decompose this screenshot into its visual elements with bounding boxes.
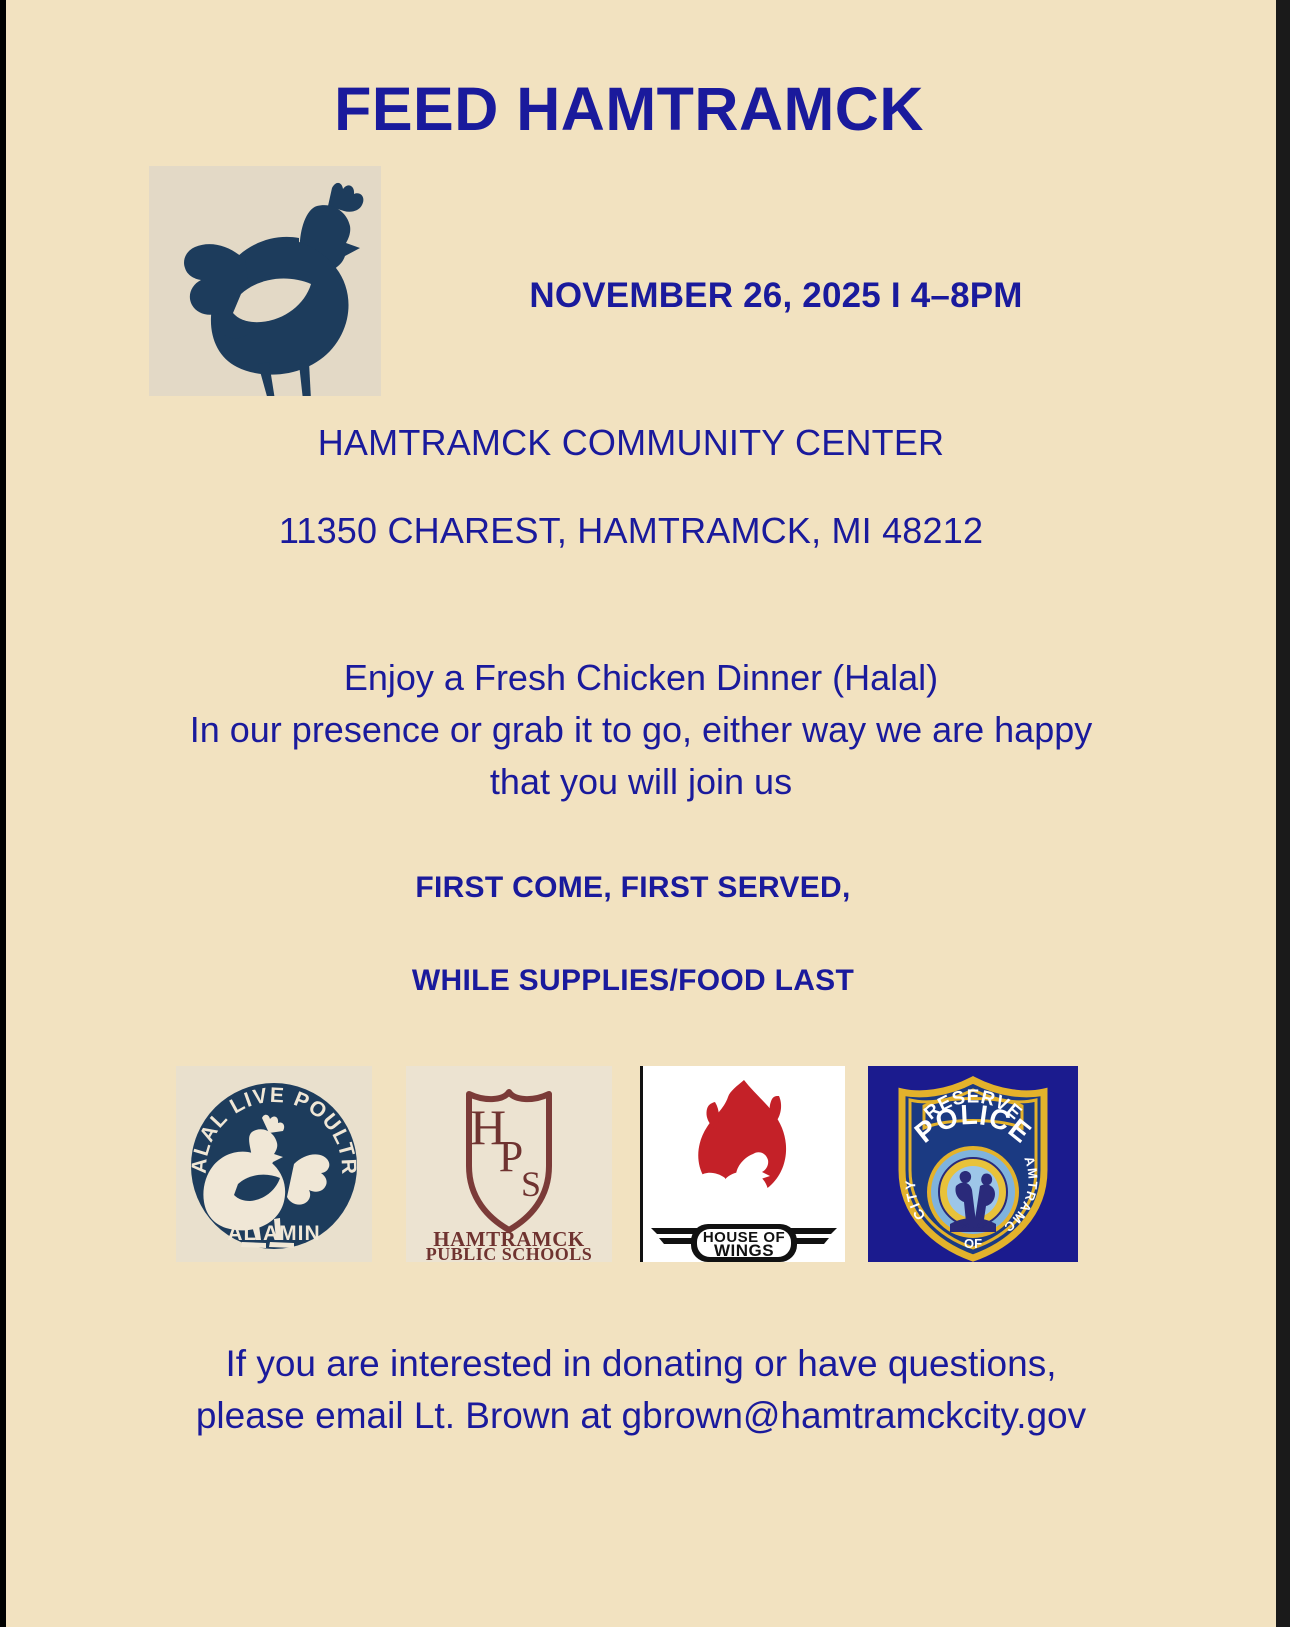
first-come-notice: FIRST COME, FIRST SERVED, [6, 871, 1276, 905]
al-amin-bottom-text: AL AMIN [227, 1222, 320, 1245]
event-venue: HAMTRAMCK COMMUNITY CENTER [6, 422, 1276, 464]
sponsor-logo-strip: HALAL LIVE POULTRY AL AMIN [176, 1066, 1078, 1262]
while-supplies-notice: WHILE SUPPLIES/FOOD LAST [6, 964, 1276, 998]
contact-line-1: If you are interested in donating or hav… [46, 1338, 1236, 1390]
police-of-text: OF [964, 1236, 982, 1251]
hps-name-line-2: PUBLIC SCHOOLS [426, 1244, 593, 1262]
page-title: FEED HAMTRAMCK [6, 74, 1276, 144]
house-of-wings-logo: HOUSE OF WINGS [640, 1066, 845, 1262]
event-datetime: NOVEMBER 26, 2025 I 4–8PM [306, 276, 1276, 316]
hps-letter-p: P [499, 1132, 523, 1181]
hamtramck-reserve-police-logo: RESERVE POLICE CITY HAMTRAMCK [868, 1066, 1078, 1262]
flyer-sheet: FEED HAMTRAMCK [6, 0, 1276, 1627]
description-line-2: In our presence or grab it to go, either… [66, 704, 1216, 756]
event-address: 11350 CHAREST, HAMTRAMCK, MI 48212 [6, 510, 1276, 552]
hps-letter-s: S [521, 1164, 541, 1204]
description-line-3: that you will join us [66, 756, 1216, 808]
house-of-wings-line-2: WINGS [714, 1241, 774, 1260]
al-amin-logo: HALAL LIVE POULTRY AL AMIN [176, 1066, 372, 1262]
event-description: Enjoy a Fresh Chicken Dinner (Halal) In … [66, 652, 1216, 808]
police-seal-year: Est. 1854 [958, 1223, 988, 1230]
description-line-1: Enjoy a Fresh Chicken Dinner (Halal) [66, 652, 1216, 704]
contact-info: If you are interested in donating or hav… [46, 1338, 1236, 1442]
flyer-page: FEED HAMTRAMCK [0, 0, 1290, 1627]
hamtramck-public-schools-logo: H P S HAMTRAMCK PUBLIC SCHOOLS [406, 1066, 612, 1262]
contact-line-2: please email Lt. Brown at gbrown@hamtram… [46, 1390, 1236, 1442]
